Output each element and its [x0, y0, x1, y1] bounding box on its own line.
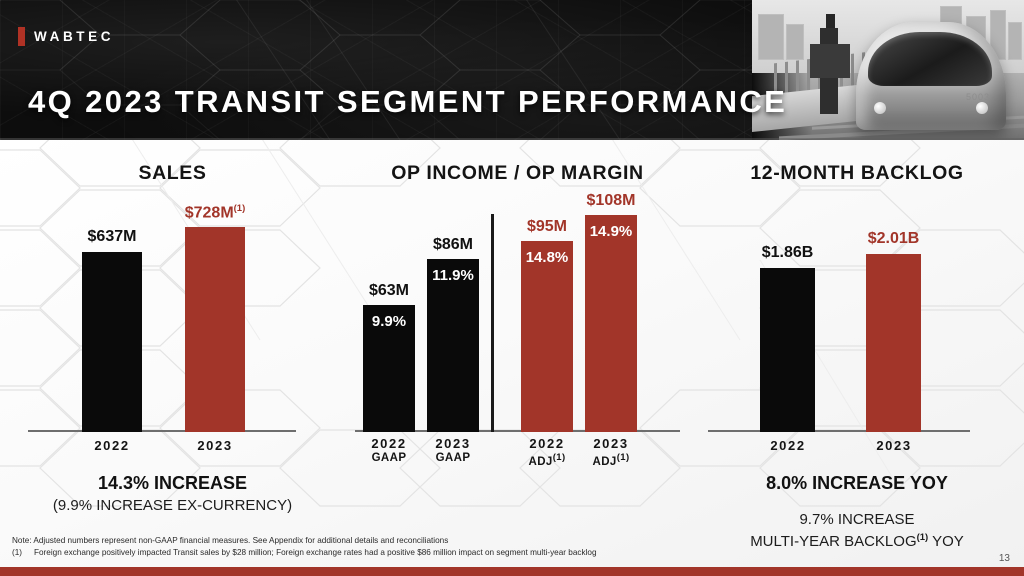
logo-bar-icon	[18, 27, 25, 46]
caption-sales-main: 14.3% INCREASE	[0, 473, 345, 494]
bar-backlog-2023: $2.01B	[866, 254, 921, 432]
footnote-note: Note: Adjusted numbers represent non-GAA…	[12, 535, 712, 547]
bar-sales-2022: $637M	[82, 252, 142, 432]
chart-op-income: OP INCOME / OP MARGIN $63M 9.9% $86M 11.…	[345, 140, 690, 568]
chart-sales-plot: $637M $728M(1)	[0, 200, 345, 432]
chart-backlog: 12-MONTH BACKLOG $1.86B $2.01B 2022 2023…	[690, 140, 1024, 568]
train-windshield	[868, 32, 992, 86]
bar-op-2022-gaap-margin: 9.9%	[363, 313, 415, 330]
bar-backlog-2023-value: $2.01B	[814, 230, 974, 248]
slide: 5003 WABTEC 4Q 2023 TRANSIT SEGMENT PERF…	[0, 0, 1024, 576]
chart-op-income-title: OP INCOME / OP MARGIN	[345, 162, 690, 185]
caption-backlog-sub-2: MULTI-YEAR BACKLOG(1) YOY	[690, 532, 1024, 550]
footnote-ref-adj-2022: (1)	[553, 452, 566, 463]
bar-op-2022-gaap: $63M 9.9%	[363, 305, 415, 432]
footnote-1: (1) Foreign exchange positively impacted…	[12, 547, 712, 559]
train-number: 5003	[966, 92, 990, 102]
footer-red-stripe	[0, 567, 1024, 576]
charts-area: SALES $637M $728M(1) 2022 2023 14.3% INC…	[0, 140, 1024, 568]
backlog-axis-line	[708, 430, 970, 432]
caption-backlog-main: 8.0% INCREASE YOY	[690, 473, 1024, 494]
footnote-ref-adj-2023: (1)	[617, 452, 630, 463]
bar-op-2023-gaap-margin: 11.9%	[427, 267, 479, 284]
bar-op-2022-adj-margin: 14.8%	[521, 249, 573, 266]
caption-backlog-sub-1: 9.7% INCREASE	[690, 511, 1024, 528]
page-title: 4Q 2023 TRANSIT SEGMENT PERFORMANCE	[28, 84, 787, 120]
bar-op-2023-gaap-value: $86M	[373, 236, 533, 254]
footnote-note-text: Note: Adjusted numbers represent non-GAA…	[12, 535, 448, 547]
bar-sales-2023-value: $728M(1)	[135, 203, 295, 222]
page-number: 13	[999, 553, 1010, 564]
chart-backlog-plot: $1.86B $2.01B	[690, 200, 1024, 432]
footnote-1-text: Foreign exchange positively impacted Tra…	[34, 547, 597, 559]
bar-op-2023-adj-value: $108M	[531, 192, 691, 210]
slide-body: SALES $637M $728M(1) 2022 2023 14.3% INC…	[0, 140, 1024, 568]
header-train-photo: 5003	[752, 0, 1024, 140]
chart-sales-title: SALES	[0, 162, 345, 185]
xlabel-sales-2022: 2022	[72, 438, 152, 453]
wabtec-logo: WABTEC	[18, 27, 114, 46]
footnote-1-index: (1)	[12, 547, 28, 559]
xlabel-op-2023-adj: 2023 ADJ(1)	[571, 436, 651, 468]
slide-header: 5003 WABTEC 4Q 2023 TRANSIT SEGMENT PERF…	[0, 0, 1024, 140]
xlabel-backlog-2022: 2022	[748, 438, 828, 453]
chart-sales: SALES $637M $728M(1) 2022 2023 14.3% INC…	[0, 140, 345, 568]
chart-op-income-plot: $63M 9.9% $86M 11.9% $95M 14.8% $108M 14…	[345, 200, 690, 432]
caption-sales-sub: (9.9% INCREASE EX-CURRENCY)	[0, 497, 345, 514]
footnotes: Note: Adjusted numbers represent non-GAA…	[12, 535, 712, 558]
xlabel-sales-2023: 2023	[175, 438, 255, 453]
bar-sales-2023: $728M(1)	[185, 227, 245, 432]
bar-backlog-2022: $1.86B	[760, 268, 815, 432]
footnote-ref-backlog: (1)	[917, 532, 929, 543]
logo-text: WABTEC	[34, 29, 114, 44]
bar-op-2023-adj: $108M 14.9%	[585, 215, 637, 432]
chart-backlog-title: 12-MONTH BACKLOG	[690, 162, 1024, 185]
bar-op-2022-adj: $95M 14.8%	[521, 241, 573, 432]
train-body: 5003	[856, 22, 1006, 130]
footnote-ref-sales: (1)	[234, 203, 246, 214]
bar-op-2023-adj-margin: 14.9%	[585, 223, 637, 240]
xlabel-op-2023-gaap: 2023 GAAP	[413, 436, 493, 464]
sales-axis-line	[28, 430, 296, 432]
xlabel-backlog-2023: 2023	[854, 438, 934, 453]
bar-op-2023-gaap: $86M 11.9%	[427, 259, 479, 432]
bar-sales-2022-value: $637M	[32, 228, 192, 246]
